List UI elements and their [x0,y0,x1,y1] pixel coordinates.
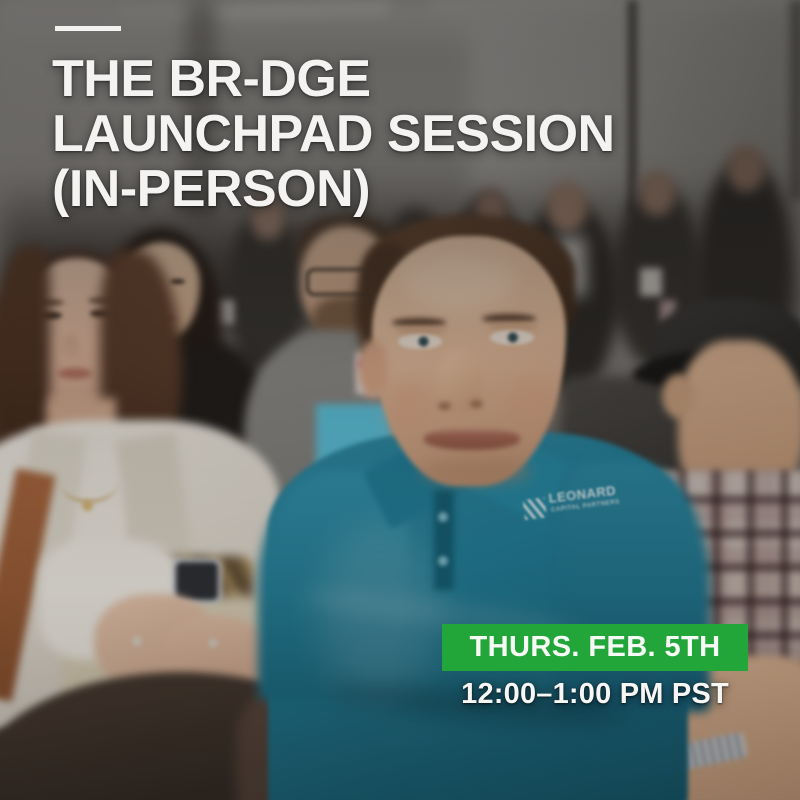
necklace [60,462,118,503]
attendee-eye [170,279,185,284]
cheek-shading [386,380,432,432]
finger-ring [132,636,142,646]
name-badge [640,268,662,296]
date-badge-label: THURS. FEB. 5TH [470,631,721,664]
attendee-hair-strand [0,246,50,456]
polo-button [438,512,448,522]
page-title: THE BR-DGE LAUNCHPAD SESSION (IN-PERSON) [52,52,752,217]
necklace-pendant [82,500,93,511]
cheek-shading [508,376,554,428]
title-line-3: (IN-PERSON) [52,162,752,217]
chin-shadow [420,458,530,484]
attendee-mouth [58,368,92,379]
event-promo-poster: LEONARD CAPITAL PARTNERS THE BR-DGE LAUN… [0,0,800,800]
polo-button [438,556,448,566]
face-highlight [404,252,514,310]
date-badge: THURS. FEB. 5TH [442,624,748,671]
attendee-ear [662,374,694,418]
subject-eye [398,334,442,349]
glass-mullion-secondary [790,0,800,200]
time-label: 12:00–1:00 PM PST [442,678,748,711]
subject-nostril [470,400,483,408]
title-line-1: THE BR-DGE [52,52,752,107]
subject-eye [490,330,534,345]
subject-mouth [424,430,520,450]
finger-ring [208,638,218,648]
attendee-nose [62,334,80,358]
polo-placket [434,490,454,590]
title-line-2: LAUNCHPAD SESSION [52,107,752,162]
subject-nostril [438,402,451,410]
logo-mark-icon [523,497,547,520]
top-accent-rule [55,26,121,31]
subject-ear [358,340,388,398]
